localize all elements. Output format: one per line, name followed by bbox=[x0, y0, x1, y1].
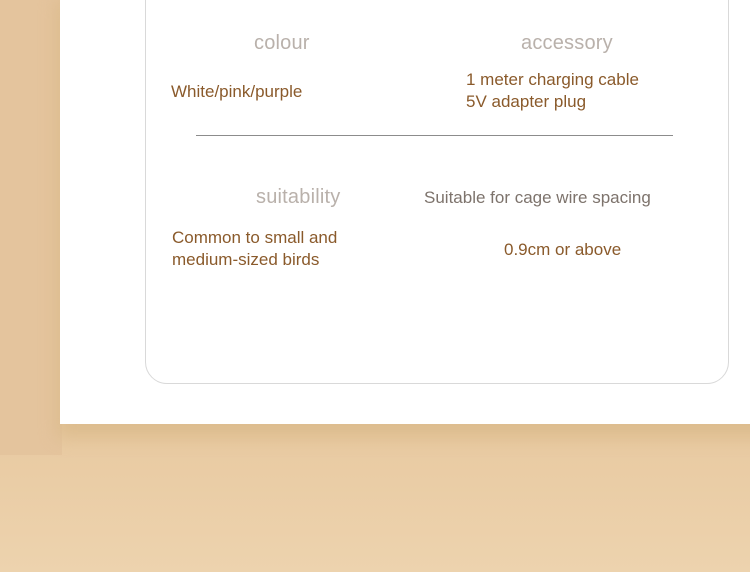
spec-divider bbox=[196, 135, 673, 136]
spec-label-colour: colour bbox=[254, 32, 310, 55]
product-detail-image: colour White/pink/purple accessory 1 met… bbox=[0, 0, 750, 572]
spec-label-cage-wire-spacing: Suitable for cage wire spacing bbox=[424, 187, 651, 209]
spec-value-colour: White/pink/purple bbox=[171, 81, 302, 103]
spec-value-suitability: Common to small and medium-sized birds bbox=[172, 227, 337, 271]
spec-label-accessory: accessory bbox=[521, 32, 613, 55]
spec-value-cage-wire-spacing: 0.9cm or above bbox=[504, 239, 621, 261]
spec-card: colour White/pink/purple accessory 1 met… bbox=[60, 0, 750, 424]
spec-label-suitability: suitability bbox=[256, 186, 340, 209]
background-left-block bbox=[0, 0, 62, 455]
spec-value-accessory: 1 meter charging cable 5V adapter plug bbox=[466, 69, 639, 113]
